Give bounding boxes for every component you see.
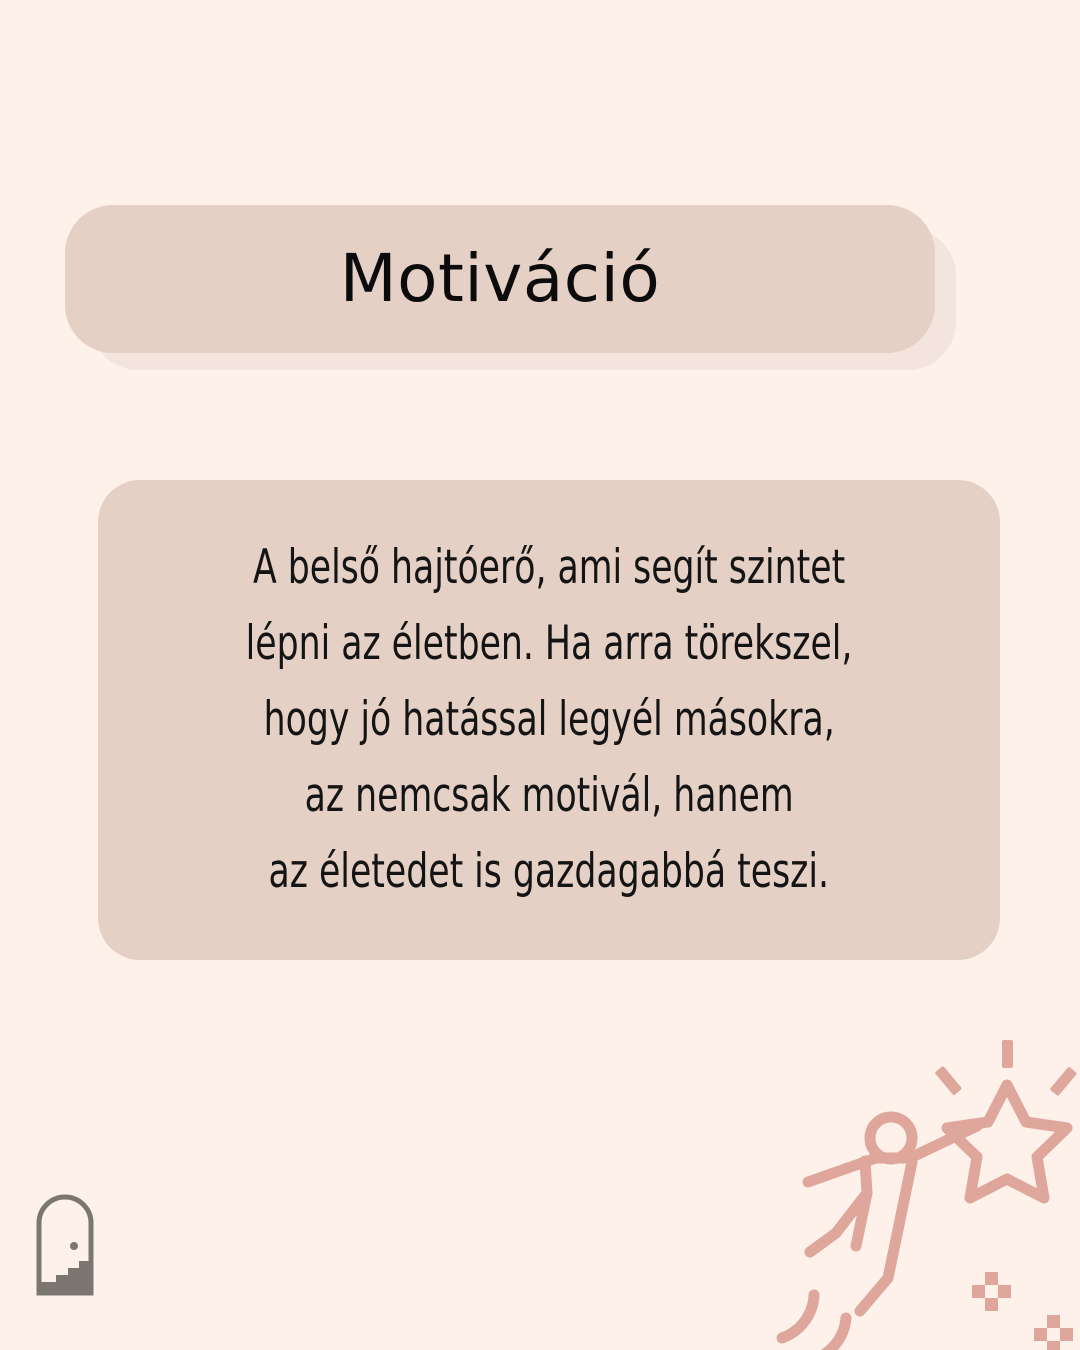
person-left-side-icon	[810, 1161, 867, 1252]
staircase-shape	[41, 1261, 89, 1291]
plus-sparkle-icon	[972, 1272, 1011, 1311]
person-arms-icon	[808, 1126, 977, 1182]
sparkle-ray-icon	[1050, 1066, 1078, 1096]
motion-line-icon	[782, 1295, 814, 1338]
sparkle-ray-icon	[935, 1066, 963, 1096]
body-text-line: az életedet is gazdagabbá teszi.	[269, 834, 829, 910]
person-head-icon	[870, 1117, 912, 1159]
body-text-line: az nemcsak motivál, hanem	[305, 758, 794, 834]
person-torso-icon	[856, 1193, 867, 1246]
body-text-line: hogy jó hatással legyél másokra,	[263, 682, 834, 758]
poster-canvas: Motiváció A belső hajtóerő, ami segít sz…	[0, 0, 1080, 1350]
body-text-line: lépni az életben. Ha arra törekszel,	[246, 606, 853, 682]
page-title: Motiváció	[340, 246, 661, 312]
star-outline-icon	[947, 1085, 1067, 1198]
motion-line-icon	[812, 1318, 846, 1350]
arched-door-logo	[34, 1192, 96, 1298]
person-right-leg-icon	[860, 1162, 912, 1311]
plus-sparkle-icon	[1034, 1315, 1073, 1350]
door-knob-icon	[70, 1242, 78, 1250]
sparkle-ray-icon	[1002, 1040, 1013, 1068]
body-text-line: A belső hajtóerő, ami segít szintet	[253, 530, 845, 606]
title-card: Motiváció	[65, 205, 935, 353]
motion-line-group	[782, 1295, 846, 1350]
sparkle-ray-group	[935, 1040, 1078, 1096]
body-card: A belső hajtóerő, ami segít szintet lépn…	[98, 480, 1000, 960]
decoration-illustration	[770, 1030, 1080, 1350]
plus-sparkle-group	[972, 1272, 1073, 1350]
